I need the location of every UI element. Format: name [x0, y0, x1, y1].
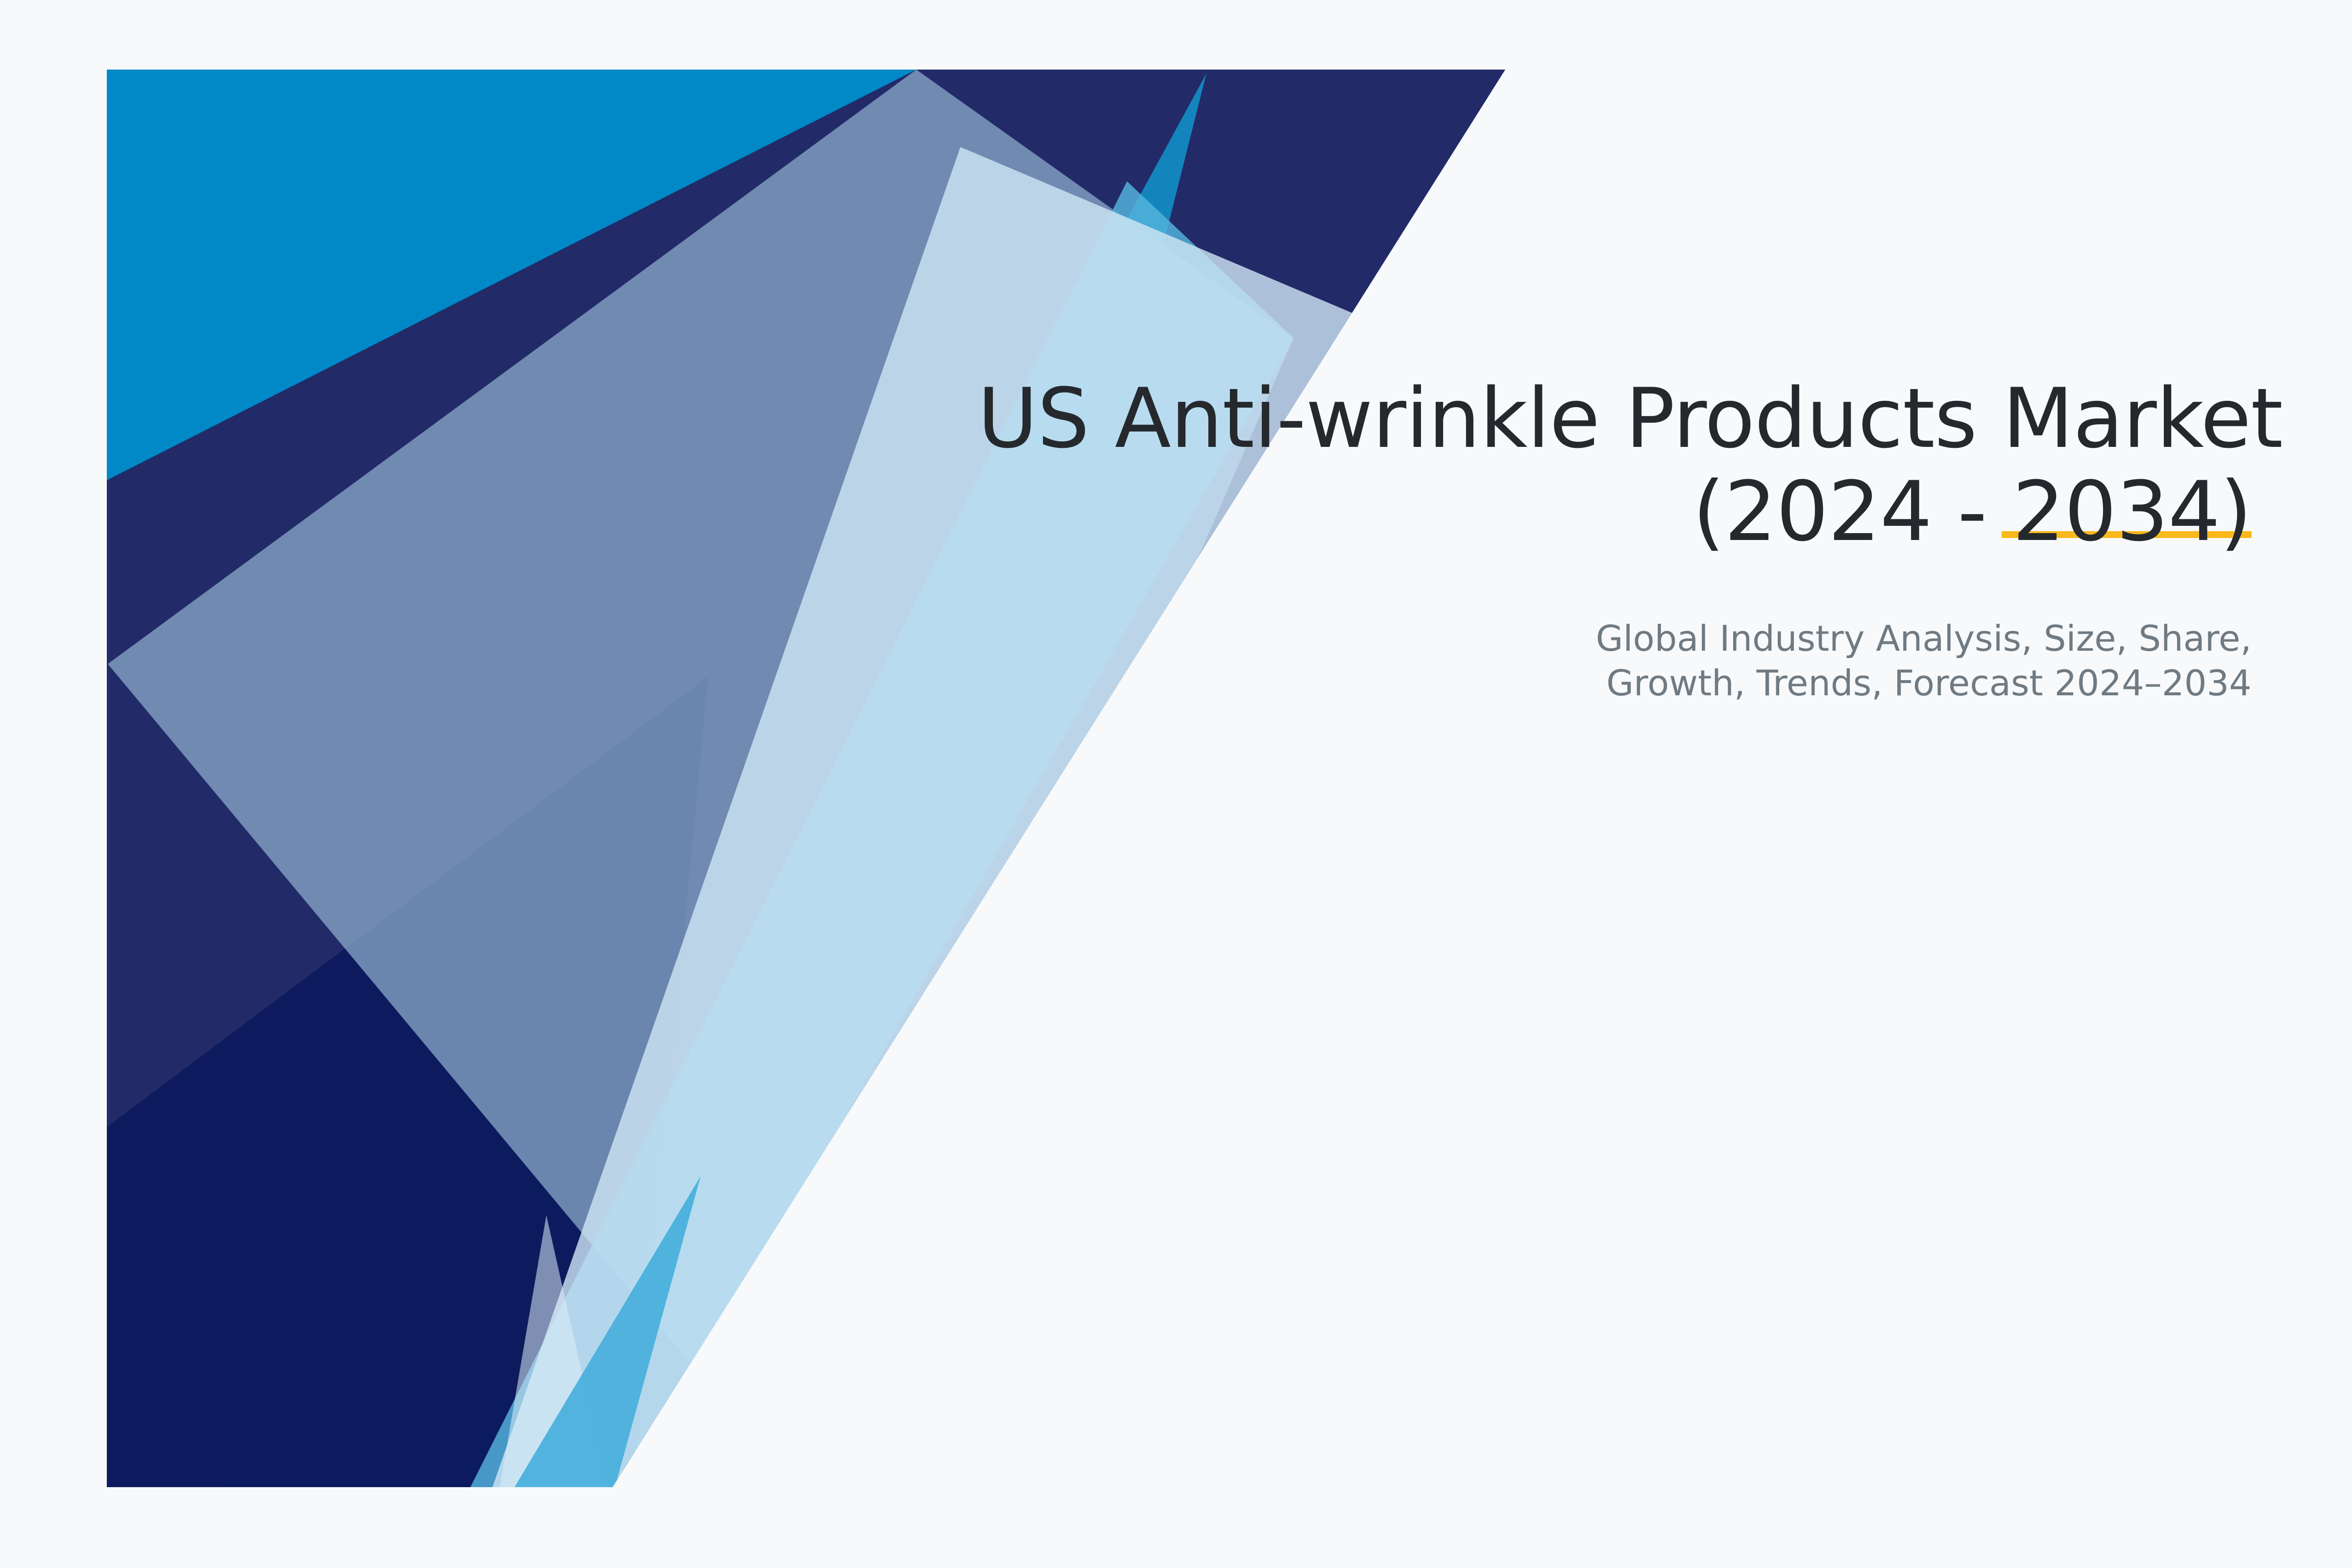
- cover-text-block: US Anti-wrinkle Products Market (2024 - …: [978, 372, 2252, 706]
- page-title-line-2: (2024 - 2034): [978, 465, 2252, 559]
- page-title-line-1: US Anti-wrinkle Products Market: [978, 372, 2252, 465]
- page-subtitle-line-1: Global Industry Analysis, Size, Share,: [978, 616, 2252, 661]
- page-subtitle: Global Industry Analysis, Size, Share, G…: [978, 616, 2252, 706]
- page-subtitle-line-2: Growth, Trends, Forecast 2024–2034: [978, 661, 2252, 706]
- page-title: US Anti-wrinkle Products Market (2024 - …: [978, 372, 2252, 559]
- report-cover-page: US Anti-wrinkle Products Market (2024 - …: [0, 0, 2352, 1568]
- abstract-geometric-artwork: [0, 0, 2352, 1568]
